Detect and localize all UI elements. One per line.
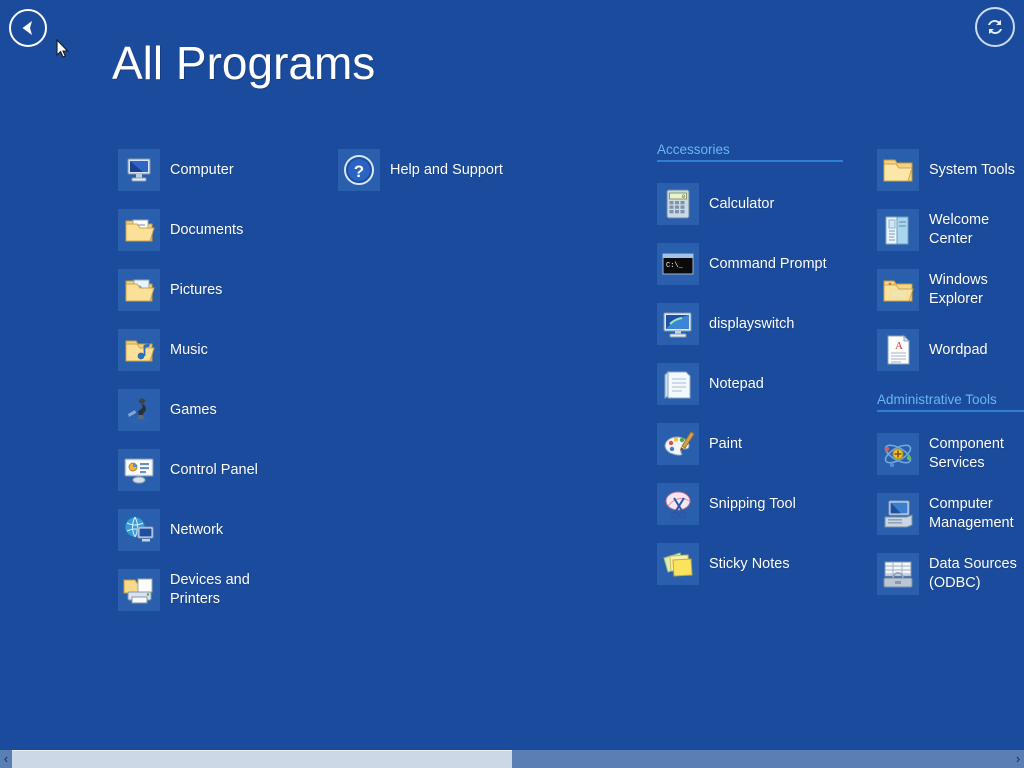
devices-and-printers-icon: [118, 569, 160, 611]
all-programs-screen: All Programs ComputerDocumentsPicturesMu…: [0, 0, 1024, 768]
program-item-notepad[interactable]: Notepad: [657, 354, 857, 414]
program-item-label: Computer Management: [929, 495, 1014, 533]
computer-management-icon: [880, 496, 916, 532]
program-item-label: Welcome Center: [929, 211, 1024, 249]
program-item-help-and-support[interactable]: ?Help and Support: [338, 140, 638, 200]
program-item-windows-explorer[interactable]: Windows Explorer: [877, 260, 1024, 320]
program-item-label: Calculator: [709, 195, 774, 214]
command-prompt-icon: C:\_: [660, 246, 696, 282]
sticky-notes-icon: [660, 546, 696, 582]
program-item-system-tools[interactable]: System Tools: [877, 140, 1024, 200]
calculator-icon: 0: [657, 183, 699, 225]
system-tools-folder-icon: [880, 152, 916, 188]
program-item-label: Windows Explorer: [929, 271, 1024, 309]
program-item-label: Command Prompt: [709, 255, 827, 274]
pictures-folder-icon: [121, 272, 157, 308]
computer-icon: [121, 152, 157, 188]
snipping-tool-icon: [657, 483, 699, 525]
system-tools-folder-icon: [877, 149, 919, 191]
scrollbar-track[interactable]: [12, 750, 1012, 768]
control-panel-icon: [118, 449, 160, 491]
program-item-calculator[interactable]: 0Calculator: [657, 174, 857, 234]
help-question-icon: ?: [341, 152, 377, 188]
snipping-tool-icon: [660, 486, 696, 522]
programs-column-3: Accessories0CalculatorC:\_Command Prompt…: [657, 140, 857, 594]
program-item-documents[interactable]: Documents: [118, 200, 328, 260]
help-question-icon: ?: [338, 149, 380, 191]
welcome-center-icon: [880, 212, 916, 248]
program-item-label: Component Services: [929, 435, 1004, 473]
group-header-administrative-tools: Administrative Tools: [877, 392, 1024, 410]
group-header-rule: [877, 410, 1024, 412]
programs-column-1: ComputerDocumentsPicturesMusicGamesContr…: [118, 140, 328, 620]
svg-text:?: ?: [354, 162, 364, 181]
svg-text:0: 0: [682, 194, 685, 200]
data-sources-odbc-icon: [880, 556, 916, 592]
program-item-label: Pictures: [170, 281, 222, 300]
component-services-icon: [877, 433, 919, 475]
group-header-rule: [657, 160, 843, 162]
program-item-welcome-center[interactable]: Welcome Center: [877, 200, 1024, 260]
program-item-label: Notepad: [709, 375, 764, 394]
program-item-command-prompt[interactable]: C:\_Command Prompt: [657, 234, 857, 294]
computer-management-icon: [877, 493, 919, 535]
program-item-games[interactable]: Games: [118, 380, 328, 440]
program-item-label: Data Sources (ODBC): [929, 555, 1017, 593]
program-item-paint[interactable]: Paint: [657, 414, 857, 474]
program-item-wordpad[interactable]: AWordpad: [877, 320, 1024, 380]
welcome-center-icon: [877, 209, 919, 251]
wordpad-icon: A: [880, 332, 916, 368]
notepad-icon: [657, 363, 699, 405]
paint-icon: [657, 423, 699, 465]
program-item-label: Wordpad: [929, 341, 988, 360]
program-item-label: Snipping Tool: [709, 495, 796, 514]
program-item-label: Control Panel: [170, 461, 258, 480]
windows-explorer-icon: [880, 272, 916, 308]
page-title: All Programs: [112, 36, 375, 90]
program-item-sticky-notes[interactable]: Sticky Notes: [657, 534, 857, 594]
refresh-button[interactable]: [975, 7, 1015, 47]
svg-text:A: A: [895, 340, 903, 352]
command-prompt-icon: C:\_: [657, 243, 699, 285]
notepad-icon: [660, 366, 696, 402]
group-header-accessories: Accessories: [657, 142, 857, 160]
program-item-label: Music: [170, 341, 208, 360]
program-item-pictures[interactable]: Pictures: [118, 260, 328, 320]
windows-explorer-icon: [877, 269, 919, 311]
component-services-icon: [880, 436, 916, 472]
calculator-icon: 0: [660, 186, 696, 222]
horizontal-scrollbar[interactable]: ‹ ›: [0, 750, 1024, 768]
program-item-computer-management[interactable]: Computer Management: [877, 484, 1024, 544]
program-item-label: Help and Support: [390, 161, 503, 180]
devices-and-printers-icon: [121, 572, 157, 608]
program-item-label: Computer: [170, 161, 234, 180]
program-item-label: Devices and Printers: [170, 571, 250, 609]
documents-folder-icon: [121, 212, 157, 248]
back-button[interactable]: [9, 9, 47, 47]
music-folder-icon: [121, 332, 157, 368]
programs-column-2: ?Help and Support: [338, 140, 638, 200]
program-item-label: Games: [170, 401, 217, 420]
scroll-right-arrow-icon[interactable]: ›: [1012, 750, 1024, 768]
program-item-label: displayswitch: [709, 315, 794, 334]
program-item-label: Documents: [170, 221, 243, 240]
scrollbar-thumb[interactable]: [12, 750, 512, 768]
program-item-computer[interactable]: Computer: [118, 140, 328, 200]
program-item-music[interactable]: Music: [118, 320, 328, 380]
program-item-control-panel[interactable]: Control Panel: [118, 440, 328, 500]
documents-folder-icon: [118, 209, 160, 251]
back-arrow-icon: [19, 19, 37, 37]
control-panel-icon: [121, 452, 157, 488]
group-spacer: [877, 380, 1024, 390]
svg-text:C:\_: C:\_: [666, 262, 684, 270]
computer-icon: [118, 149, 160, 191]
program-item-label: System Tools: [929, 161, 1015, 180]
program-item-label: Sticky Notes: [709, 555, 790, 574]
paint-icon: [660, 426, 696, 462]
program-item-data-sources-odbc[interactable]: Data Sources (ODBC): [877, 544, 1024, 604]
program-item-snipping-tool[interactable]: Snipping Tool: [657, 474, 857, 534]
scroll-left-arrow-icon[interactable]: ‹: [0, 750, 12, 768]
wordpad-icon: A: [877, 329, 919, 371]
refresh-sync-icon: [984, 16, 1006, 38]
games-icon: [121, 392, 157, 428]
program-item-displayswitch[interactable]: displayswitch: [657, 294, 857, 354]
network-icon: [118, 509, 160, 551]
data-sources-odbc-icon: [877, 553, 919, 595]
program-item-network[interactable]: Network: [118, 500, 328, 560]
sticky-notes-icon: [657, 543, 699, 585]
program-item-label: Paint: [709, 435, 742, 454]
games-icon: [118, 389, 160, 431]
displayswitch-icon: [657, 303, 699, 345]
displayswitch-icon: [660, 306, 696, 342]
mouse-cursor: [56, 39, 70, 59]
pictures-folder-icon: [118, 269, 160, 311]
program-item-devices-and-printers[interactable]: Devices and Printers: [118, 560, 328, 620]
music-folder-icon: [118, 329, 160, 371]
program-item-label: Network: [170, 521, 223, 540]
program-item-component-services[interactable]: Component Services: [877, 424, 1024, 484]
network-icon: [121, 512, 157, 548]
programs-column-4: System ToolsWelcome CenterWindows Explor…: [877, 140, 1024, 604]
